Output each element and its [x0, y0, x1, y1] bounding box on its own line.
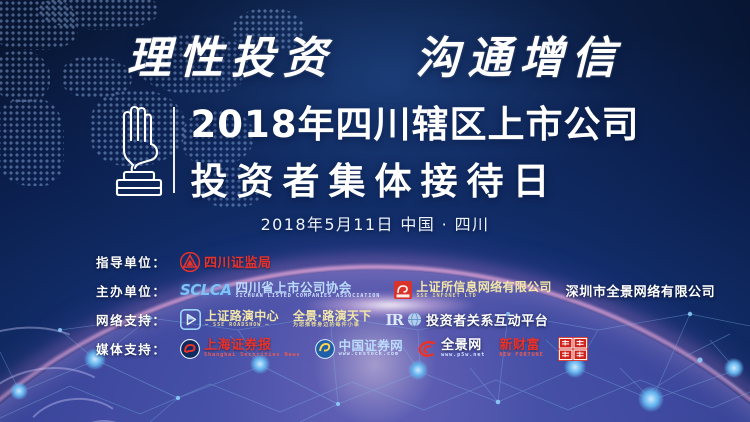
logo-cnstock[interactable]: 中国证券网 www.cnstock.com — [315, 339, 404, 359]
logo-text: 全景网 — [441, 339, 485, 353]
logo-p5w[interactable]: 全景网 www.p5w.net — [417, 339, 485, 358]
logo-roadshow-world[interactable]: 全景·路演天下 为您推荐身边的每件小事 — [293, 310, 372, 328]
cnstock-globe-icon — [315, 339, 335, 359]
sponsor-row-network: 网络支持： 上证路演中心 — SSE ROADSHOW — 全景·路演天 — [0, 305, 750, 334]
p5w-swirl-icon — [417, 340, 437, 358]
logo-sse-infonet[interactable]: 上证所信息网络有限公司 SSE INFONET LTD — [394, 281, 551, 299]
sponsor-label: 主办单位： — [96, 281, 180, 300]
logo-subtext: SSE INFONET LTD — [416, 294, 551, 299]
title-divider — [173, 107, 175, 193]
title-line-1: 2018年四川辖区上市公司 — [191, 94, 640, 148]
logo-subtext: NEW FORTUNE — [499, 353, 543, 358]
logo-subtext: www.cnstock.com — [339, 352, 404, 357]
sponsor-row-host: 主办单位： SCLCA 四川省上市公司协会 SICHUAN LISTED COM… — [0, 276, 750, 305]
logo-text: 新财富 — [499, 339, 543, 353]
logo-subtext: Shanghai Securities News — [204, 353, 301, 358]
logo-subtext: SICHUAN LISTED COMPANIES ASSOCIATION — [236, 294, 381, 299]
sponsor-label: 网络支持： — [96, 310, 180, 329]
headline-slogan: 理性投资 沟通增信 — [0, 22, 750, 86]
red-seal-grid-icon — [558, 337, 588, 361]
sponsor-label: 媒体支持： — [96, 339, 180, 358]
event-dateline: 2018年5月11日 中国 · 四川 — [0, 211, 750, 235]
logo-ir-platform[interactable]: IR 投资者关系互动平台 — [385, 310, 548, 329]
logo-subtext: 为您推荐身边的每件小事 — [293, 323, 372, 328]
sponsor-label: 指导单位： — [96, 252, 180, 271]
sichuan-csrc-triangle-icon — [180, 252, 200, 272]
logo-text: 深圳市全景网络有限公司 — [566, 281, 716, 300]
title-block: 2018年四川辖区上市公司 投资者集体接待日 — [0, 94, 750, 205]
ir-platform-icon: IR — [385, 311, 402, 329]
title-line-2: 投资者集体接待日 — [191, 151, 640, 205]
sse-infonet-logo-icon — [394, 281, 412, 299]
logo-subtext: — SSE ROADSHOW — — [205, 323, 279, 328]
logo-sichuan-csrc[interactable]: 四川证监局 — [180, 252, 272, 272]
logo-new-fortune[interactable]: 新财富 NEW FORTUNE — [499, 339, 543, 358]
logo-text: 投资者关系互动平台 — [426, 310, 548, 329]
sponsor-row-guidance: 指导单位： 四川证监局 — [0, 247, 750, 276]
logo-p5w-company[interactable]: 深圳市全景网络有限公司 — [566, 281, 716, 300]
logo-sse-roadshow[interactable]: 上证路演中心 — SSE ROADSHOW — — [180, 309, 279, 330]
sse-roadshow-play-icon — [180, 309, 201, 330]
logo-shanghai-securities-news[interactable]: 上海证券报 Shanghai Securities News — [180, 339, 301, 359]
logo-sclca[interactable]: SCLCA 四川省上市公司协会 SICHUAN LISTED COMPANIES… — [180, 281, 380, 300]
poster-canvas: 理性投资 沟通增信 2018年四川辖区上市公司 投资者集体接待日 — [0, 0, 750, 422]
logo-text: 上海证券报 — [204, 339, 301, 353]
ir-globe-icon — [407, 312, 422, 327]
hand-on-book-icon — [111, 100, 165, 200]
headline-left: 理性投资 — [127, 33, 335, 84]
logo-text: 四川证监局 — [204, 252, 272, 271]
shanghai-securities-news-icon — [180, 339, 200, 359]
logo-red-seal[interactable] — [558, 337, 588, 361]
sclca-logo-icon: SCLCA — [180, 281, 232, 299]
headline-right: 沟通增信 — [415, 33, 623, 84]
sponsor-row-media: 媒体支持： 上海证券报 Shanghai Securities News — [0, 334, 750, 363]
sponsor-section: 指导单位： 四川证监局 主办单位： SCLCA 四川 — [0, 247, 750, 363]
logo-subtext: www.p5w.net — [441, 353, 485, 358]
